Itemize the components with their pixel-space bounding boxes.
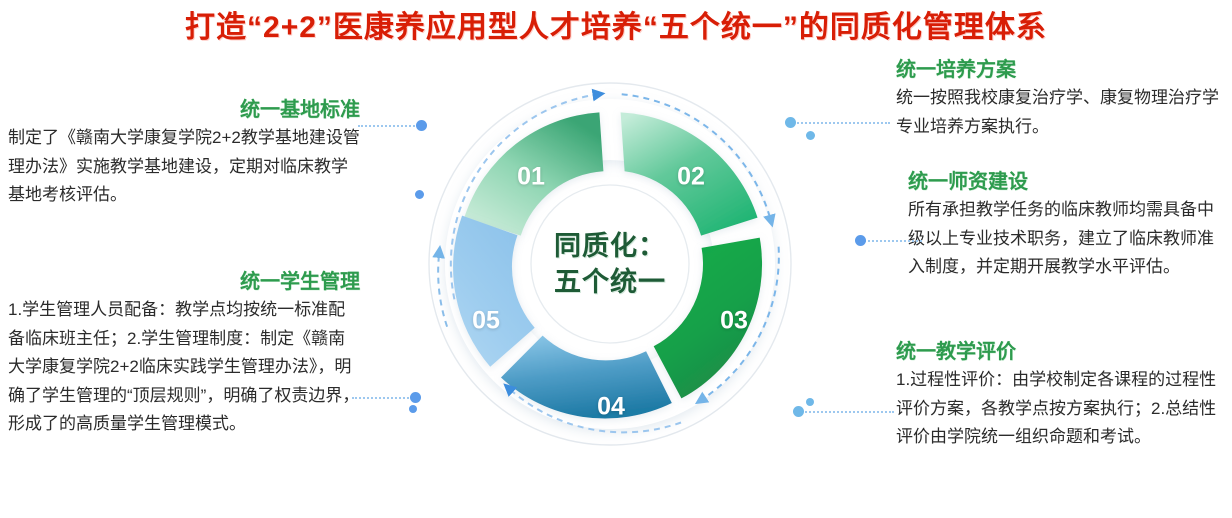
decorative-dot [409,405,417,413]
section-base-standard-heading: 统一基地标准 [8,96,360,124]
inner-ring-outline [531,185,689,343]
section-student-management-heading: 统一学生管理 [8,268,360,296]
decorative-dot [806,131,815,140]
section-student-management-body: 1.学生管理人员配备：教学点均按统一标准配备临床班主任；2.学生管理制度：制定《… [8,296,360,439]
section-student-management: 统一学生管理 1.学生管理人员配备：教学点均按统一标准配备临床班主任；2.学生管… [8,268,360,439]
connector-dot [855,235,866,246]
section-faculty-development: 统一师资建设 所有承担教学任务的临床教师均需具备中级以上专业技术职务，建立了临床… [908,168,1226,282]
connector-line [352,397,416,399]
connector-line [798,411,894,413]
section-training-plan-heading: 统一培养方案 [896,56,1226,84]
section-faculty-development-body: 所有承担教学任务的临床教师均需具备中级以上专业技术职务，建立了临床教师准入制度，… [908,196,1226,282]
section-teaching-evaluation-heading: 统一教学评价 [896,338,1228,366]
section-teaching-evaluation-body: 1.过程性评价：由学校制定各课程的过程性评价方案，各教学点按方案执行；2.总结性… [896,366,1228,452]
connector-base-standard [358,124,422,127]
connector-line [358,125,422,127]
connector-line [860,240,922,242]
connector-student-management [352,396,416,399]
donut-segment-03[interactable] [654,238,762,399]
section-faculty-development-heading: 统一师资建设 [908,168,1226,196]
connector-line [790,122,890,124]
section-teaching-evaluation: 统一教学评价 1.过程性评价：由学校制定各课程的过程性评价方案，各教学点按方案执… [896,338,1228,452]
connector-training-plan [790,121,890,124]
section-training-plan: 统一培养方案 统一按照我校康复治疗学、康复物理治疗学专业培养方案执行。 [896,56,1226,141]
section-training-plan-body: 统一按照我校康复治疗学、康复物理治疗学专业培养方案执行。 [896,84,1226,141]
connector-teaching-evaluation [798,410,894,413]
five-unification-donut-chart: 01 02 03 04 05 同质化： 五个统一 [418,72,802,456]
section-base-standard-body: 制定了《赣南大学康复学院2+2教学基地建设管理办法》实施教学基地建设，定期对临床… [8,124,360,210]
decorative-dot [806,398,814,406]
connector-faculty-development [860,239,922,242]
section-base-standard: 统一基地标准 制定了《赣南大学康复学院2+2教学基地建设管理办法》实施教学基地建… [8,96,360,210]
infographic-page: 打造“2+2”医康养应用型人才培养“五个统一”的同质化管理体系 统一基地标准 制… [0,0,1232,518]
page-title: 打造“2+2”医康养应用型人才培养“五个统一”的同质化管理体系 [0,8,1232,48]
